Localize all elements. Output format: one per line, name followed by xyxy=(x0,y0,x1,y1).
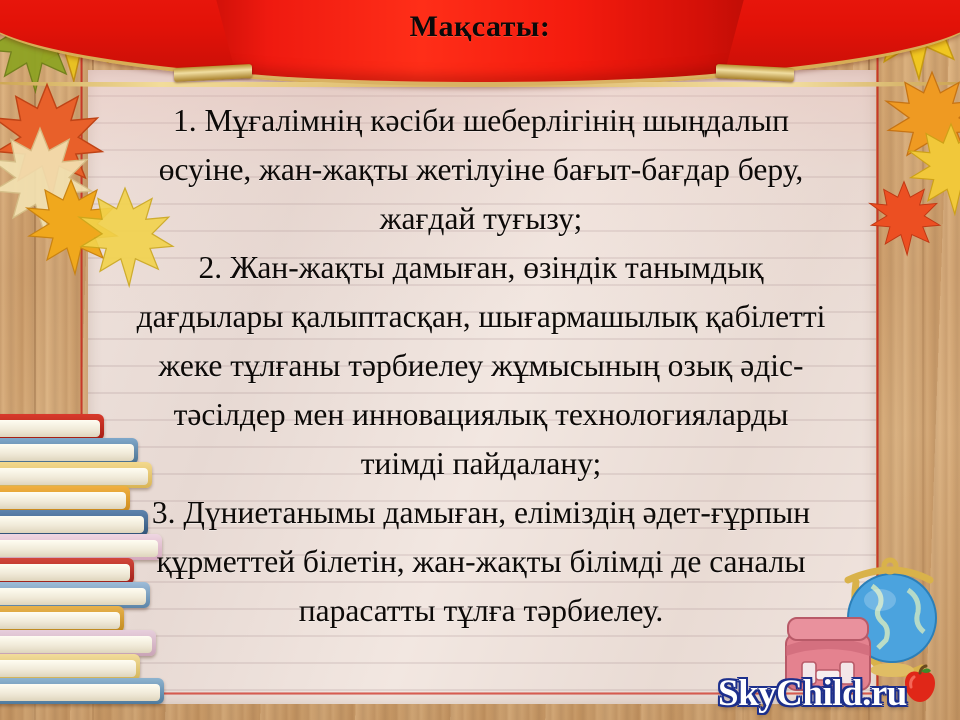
slide-canvas: Мақсаты: 1. Мұғалімнің кәсіби шеберлігін… xyxy=(0,0,960,720)
objective-line: жеке тұлғаны тәрбиелеу жұмысының озық әд… xyxy=(20,341,942,390)
objective-line: өсуіне, жан-жақты жетілуіне бағыт-бағдар… xyxy=(20,145,942,194)
objective-line: дағдылары қалыптасқан, шығармашылық қабі… xyxy=(20,292,942,341)
objective-line: тәсілдер мен инновациялық технологиялард… xyxy=(20,390,942,439)
banner-fold-right xyxy=(716,64,794,82)
objective-line: құрметтей білетін, жан-жақты білімді де … xyxy=(20,537,942,586)
objectives-text-block: 1. Мұғалімнің кәсіби шеберлігінің шыңдал… xyxy=(20,96,942,635)
title-banner: Мақсаты: xyxy=(0,0,960,94)
objective-line: тиімді пайдалану; xyxy=(20,439,942,488)
objective-line: 2. Жан-жақты дамыған, өзіндік танымдық xyxy=(20,243,942,292)
objective-line: жағдай туғызу; xyxy=(20,194,942,243)
banner-fold-left xyxy=(174,64,252,82)
objective-line: 3. Дүниетанымы дамыған, еліміздің әдет-ғ… xyxy=(20,488,942,537)
objective-line: 1. Мұғалімнің кәсіби шеберлігінің шыңдал… xyxy=(20,96,942,145)
watermark: SkyChild.ru xyxy=(718,672,907,715)
page-title: Мақсаты: xyxy=(0,10,960,44)
